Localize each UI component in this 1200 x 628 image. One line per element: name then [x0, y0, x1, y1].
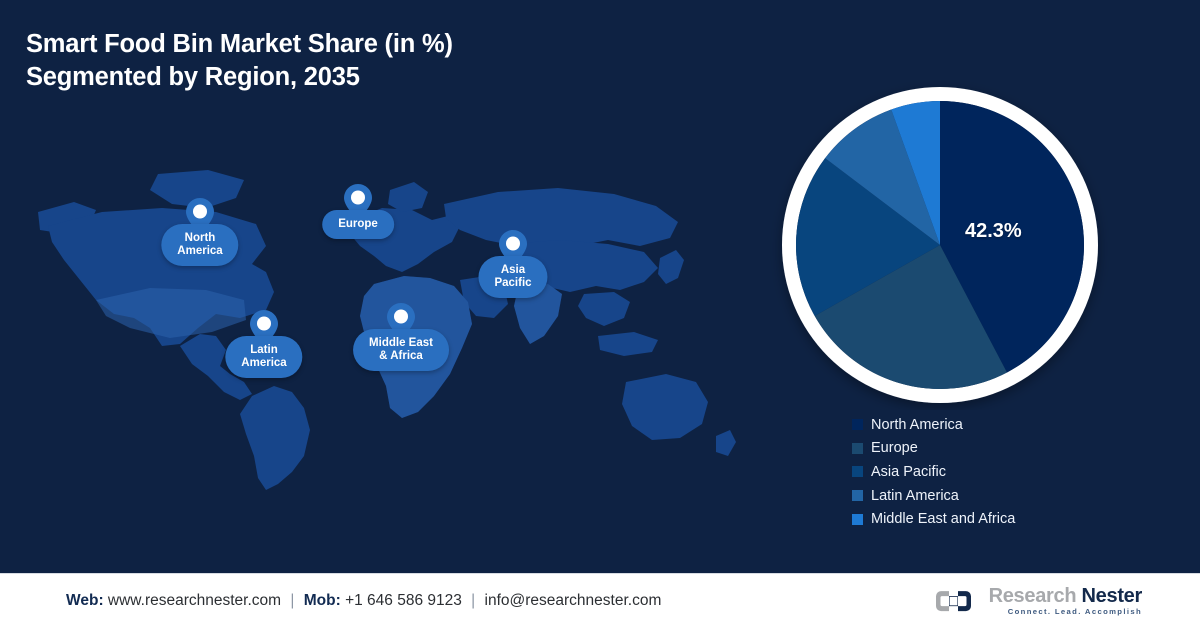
footer-bar: Web: www.researchnester.com | Mob: +1 64…	[0, 573, 1200, 628]
legend-label: Europe	[871, 440, 918, 456]
legend-swatch	[852, 443, 863, 454]
infographic-canvas: Smart Food Bin Market Share (in %) Segme…	[0, 0, 1200, 573]
interlocking-links-logo-icon	[936, 589, 980, 613]
legend-swatch	[852, 466, 863, 477]
logo-wordmark: Research Nester Connect. Lead. Accomplis…	[989, 586, 1142, 616]
map-pin-label-europe: Europe	[322, 210, 394, 239]
legend-item-north-america[interactable]: North America	[852, 413, 1015, 437]
legend-swatch	[852, 490, 863, 501]
map-pin-label-north-america: North America	[161, 224, 238, 266]
footer-separator: |	[285, 592, 299, 609]
legend-swatch	[852, 419, 863, 430]
pie-chart	[757, 80, 1123, 410]
legend-item-europe[interactable]: Europe	[852, 437, 1015, 461]
footer-mob-value[interactable]: +1 646 586 9123	[345, 592, 462, 609]
footer-email-value[interactable]: info@researchnester.com	[485, 592, 662, 609]
footer-web-label: Web:	[66, 592, 104, 609]
footer-separator: |	[466, 592, 480, 609]
legend-label: Middle East and Africa	[871, 511, 1015, 527]
footer-mob-label: Mob:	[304, 592, 341, 609]
chart-legend: North America Europe Asia Pacific Latin …	[852, 413, 1015, 531]
page-title-line-2: Segmented by Region, 2035	[26, 61, 666, 94]
pie-slices[interactable]	[796, 101, 1084, 389]
legend-item-middle-east-and-africa[interactable]: Middle East and Africa	[852, 507, 1015, 531]
footer-web-value[interactable]: www.researchnester.com	[108, 592, 281, 609]
map-pin-label-middle-east-africa: Middle East & Africa	[353, 329, 449, 371]
legend-label: North America	[871, 417, 963, 433]
legend-label: Latin America	[871, 488, 959, 504]
map-pin-label-latin-america: Latin America	[225, 336, 302, 378]
logo-name-research: Research	[989, 585, 1077, 607]
footer-contact-info: Web: www.researchnester.com | Mob: +1 64…	[66, 592, 661, 610]
legend-label: Asia Pacific	[871, 464, 946, 480]
company-logo[interactable]: Research Nester Connect. Lead. Accomplis…	[936, 586, 1142, 616]
map-pin-label-asia-pacific: Asia Pacific	[478, 256, 547, 298]
legend-swatch	[852, 514, 863, 525]
legend-item-latin-america[interactable]: Latin America	[852, 484, 1015, 508]
logo-name-nester: Nester	[1082, 585, 1142, 607]
logo-tagline: Connect. Lead. Accomplish	[989, 608, 1142, 616]
pie-slice-value-label: 42.3%	[965, 220, 1022, 243]
legend-item-asia-pacific[interactable]: Asia Pacific	[852, 460, 1015, 484]
pie-chart-svg	[757, 80, 1123, 410]
page-title-line-1: Smart Food Bin Market Share (in %)	[26, 28, 666, 61]
logo-company-name: Research Nester	[989, 586, 1142, 606]
page-title: Smart Food Bin Market Share (in %) Segme…	[26, 28, 666, 94]
